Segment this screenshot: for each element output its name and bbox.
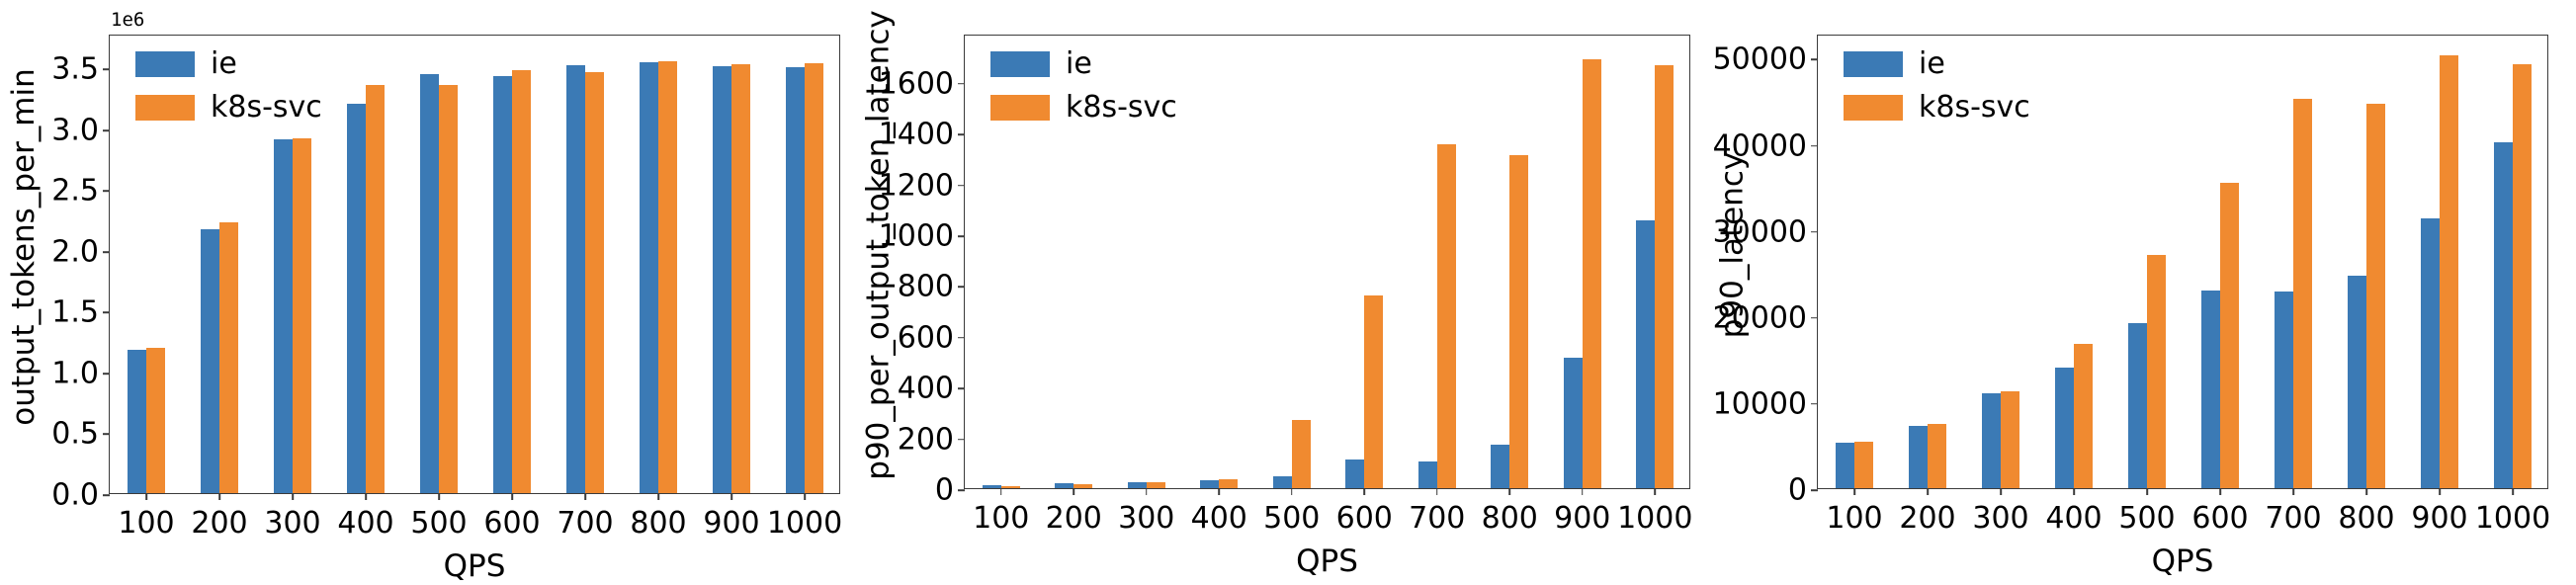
bar-k8s-svc-500 <box>439 85 458 493</box>
legend-label: k8s-svc <box>1919 93 2030 123</box>
legend-item-ie[interactable]: ie <box>990 49 1177 79</box>
x-tick-label: 1000 <box>2475 488 2550 536</box>
bar-ie-500 <box>1273 476 1292 488</box>
bar-ie-300 <box>1982 393 2001 488</box>
bar-k8s-svc-100 <box>146 348 165 493</box>
x-tick-label: 900 <box>2411 488 2467 536</box>
bar-k8s-svc-900 <box>731 64 750 493</box>
bar-ie-900 <box>2421 218 2440 488</box>
chart-panel-1: p90_per_output_token_latency020040060080… <box>859 0 1718 585</box>
legend-item-k8s-svc[interactable]: k8s-svc <box>990 93 1177 123</box>
plot-area: 0200400600800100012001400160010020030040… <box>964 35 1690 489</box>
y-tick-label: 1000 <box>879 219 965 254</box>
y-tick-label: 2.0 <box>51 234 110 269</box>
legend-item-k8s-svc[interactable]: k8s-svc <box>1844 93 2030 123</box>
bar-k8s-svc-500 <box>2147 255 2166 488</box>
bar-k8s-svc-200 <box>219 222 238 493</box>
bar-ie-600 <box>1345 460 1364 488</box>
x-tick-label: 300 <box>1118 488 1174 536</box>
y-tick-label: 1600 <box>879 66 965 101</box>
x-tick-label: 600 <box>483 493 540 541</box>
x-tick-label: 100 <box>973 488 1029 536</box>
x-tick-label: 700 <box>2265 488 2321 536</box>
bar-k8s-svc-300 <box>293 138 311 493</box>
y-tick-label: 40000 <box>1713 128 1818 163</box>
legend-item-ie[interactable]: ie <box>1844 49 2030 79</box>
bar-ie-600 <box>493 76 512 493</box>
y-tick-label: 600 <box>898 320 965 355</box>
bar-k8s-svc-100 <box>1854 442 1873 488</box>
x-tick-label: 600 <box>1336 488 1393 536</box>
chart-panel-2: p90_latency01000020000300004000050000100… <box>1718 0 2576 585</box>
y-tick-label: 1.0 <box>51 356 110 390</box>
legend[interactable]: iek8s-svc <box>135 49 322 123</box>
legend-swatch-ie <box>135 51 195 77</box>
legend-swatch-ie <box>1844 51 1903 77</box>
bar-ie-300 <box>274 139 293 493</box>
x-tick-label: 400 <box>2045 488 2102 536</box>
legend-label: ie <box>1919 49 1945 79</box>
bar-ie-600 <box>2201 291 2220 488</box>
y-tick-label: 0.5 <box>51 417 110 452</box>
y-tick-label: 0.0 <box>51 478 110 513</box>
bar-ie-500 <box>420 74 439 493</box>
x-tick-label: 500 <box>2118 488 2175 536</box>
bar-ie-700 <box>566 65 585 493</box>
x-tick-label: 700 <box>557 493 613 541</box>
legend[interactable]: iek8s-svc <box>1844 49 2030 123</box>
y-tick-label: 30000 <box>1713 214 1818 249</box>
bar-k8s-svc-300 <box>2001 391 2019 488</box>
x-tick-label: 200 <box>1899 488 1955 536</box>
bar-k8s-svc-400 <box>366 85 385 493</box>
bar-k8s-svc-600 <box>2220 183 2239 488</box>
bar-k8s-svc-500 <box>1292 420 1311 488</box>
bar-ie-800 <box>2348 276 2366 488</box>
bar-ie-1000 <box>786 67 805 493</box>
bar-ie-200 <box>201 229 219 493</box>
bar-ie-700 <box>1418 461 1437 488</box>
x-tick-label: 1000 <box>1617 488 1692 536</box>
y-tick-label: 1400 <box>879 118 965 152</box>
x-axis-label: QPS <box>1296 543 1358 579</box>
y-tick-label: 0 <box>935 473 965 508</box>
x-tick-label: 100 <box>118 493 174 541</box>
bar-ie-900 <box>1564 358 1583 488</box>
bar-k8s-svc-600 <box>1364 295 1383 488</box>
bar-ie-400 <box>1200 480 1219 488</box>
x-tick-label: 100 <box>1826 488 1882 536</box>
y-tick-label: 400 <box>898 372 965 406</box>
x-tick-label: 500 <box>410 493 467 541</box>
bar-ie-800 <box>640 62 658 493</box>
bar-k8s-svc-800 <box>658 61 677 493</box>
y-tick-label: 200 <box>898 422 965 457</box>
legend-item-k8s-svc[interactable]: k8s-svc <box>135 93 322 123</box>
legend-label: ie <box>211 49 237 79</box>
bar-k8s-svc-400 <box>1219 479 1238 489</box>
chart-panel-0: output_tokens_per_min1e60.00.51.01.52.02… <box>0 0 859 585</box>
y-tick-label: 1.5 <box>51 295 110 330</box>
x-tick-label: 900 <box>1554 488 1610 536</box>
legend-swatch-k8s-svc <box>990 95 1050 121</box>
bar-ie-1000 <box>1636 220 1655 488</box>
x-tick-label: 700 <box>1409 488 1465 536</box>
bar-k8s-svc-900 <box>1583 59 1601 488</box>
bar-k8s-svc-900 <box>2440 55 2458 488</box>
y-tick-label: 1200 <box>879 168 965 203</box>
legend-swatch-ie <box>990 51 1050 77</box>
bar-ie-500 <box>2128 323 2147 488</box>
x-tick-label: 300 <box>264 493 320 541</box>
bar-ie-100 <box>1836 443 1854 488</box>
bar-ie-200 <box>1909 426 1928 488</box>
bar-k8s-svc-400 <box>2074 344 2093 488</box>
bar-ie-400 <box>347 104 366 493</box>
y-tick-label: 10000 <box>1713 386 1818 421</box>
figure-canvas: output_tokens_per_min1e60.00.51.01.52.02… <box>0 0 2576 585</box>
legend-label: k8s-svc <box>211 93 322 123</box>
bar-ie-900 <box>713 66 731 493</box>
bar-k8s-svc-700 <box>585 72 604 493</box>
x-tick-label: 800 <box>1482 488 1538 536</box>
x-tick-label: 800 <box>2338 488 2394 536</box>
bar-ie-400 <box>2055 368 2074 488</box>
y-tick-label: 3.0 <box>51 113 110 147</box>
y-tick-label: 0 <box>1788 473 1818 508</box>
x-tick-label: 800 <box>630 493 686 541</box>
y-tick-label: 50000 <box>1713 42 1818 77</box>
bar-k8s-svc-700 <box>2293 99 2312 488</box>
x-tick-label: 500 <box>1263 488 1320 536</box>
bar-ie-700 <box>2275 292 2293 488</box>
legend[interactable]: iek8s-svc <box>990 49 1177 123</box>
bar-k8s-svc-1000 <box>805 63 823 493</box>
x-tick-label: 900 <box>703 493 759 541</box>
plot-area: 0100002000030000400005000010020030040050… <box>1817 35 2548 489</box>
x-tick-label: 400 <box>337 493 393 541</box>
x-axis-label: QPS <box>444 548 506 584</box>
legend-swatch-k8s-svc <box>135 95 195 121</box>
x-tick-label: 600 <box>2191 488 2248 536</box>
x-tick-label: 1000 <box>767 493 842 541</box>
plot-area: 0.00.51.01.52.02.53.03.51002003004005006… <box>109 35 840 494</box>
y-axis-label: output_tokens_per_min <box>4 0 43 494</box>
bar-k8s-svc-600 <box>512 70 531 493</box>
legend-label: ie <box>1066 49 1092 79</box>
y-axis-offset-text: 1e6 <box>111 9 144 31</box>
bar-k8s-svc-800 <box>2366 104 2385 488</box>
legend-item-ie[interactable]: ie <box>135 49 322 79</box>
bar-ie-800 <box>1491 445 1509 488</box>
y-tick-label: 800 <box>898 270 965 304</box>
bar-k8s-svc-1000 <box>1655 65 1674 488</box>
y-axis-label-text: output_tokens_per_min <box>6 68 42 426</box>
bar-k8s-svc-800 <box>1509 155 1528 488</box>
x-axis-label: QPS <box>2152 543 2214 579</box>
y-tick-label: 20000 <box>1713 300 1818 335</box>
legend-swatch-k8s-svc <box>1844 95 1903 121</box>
bar-k8s-svc-700 <box>1437 144 1456 488</box>
x-tick-label: 400 <box>1191 488 1247 536</box>
bar-ie-1000 <box>2494 142 2513 488</box>
y-tick-label: 3.5 <box>51 52 110 87</box>
bar-k8s-svc-200 <box>1928 424 1946 488</box>
x-tick-label: 200 <box>191 493 247 541</box>
x-tick-label: 300 <box>1972 488 2028 536</box>
bar-k8s-svc-1000 <box>2513 64 2532 489</box>
y-tick-label: 2.5 <box>51 174 110 209</box>
bar-ie-100 <box>128 350 146 493</box>
legend-label: k8s-svc <box>1066 93 1177 123</box>
x-tick-label: 200 <box>1046 488 1102 536</box>
